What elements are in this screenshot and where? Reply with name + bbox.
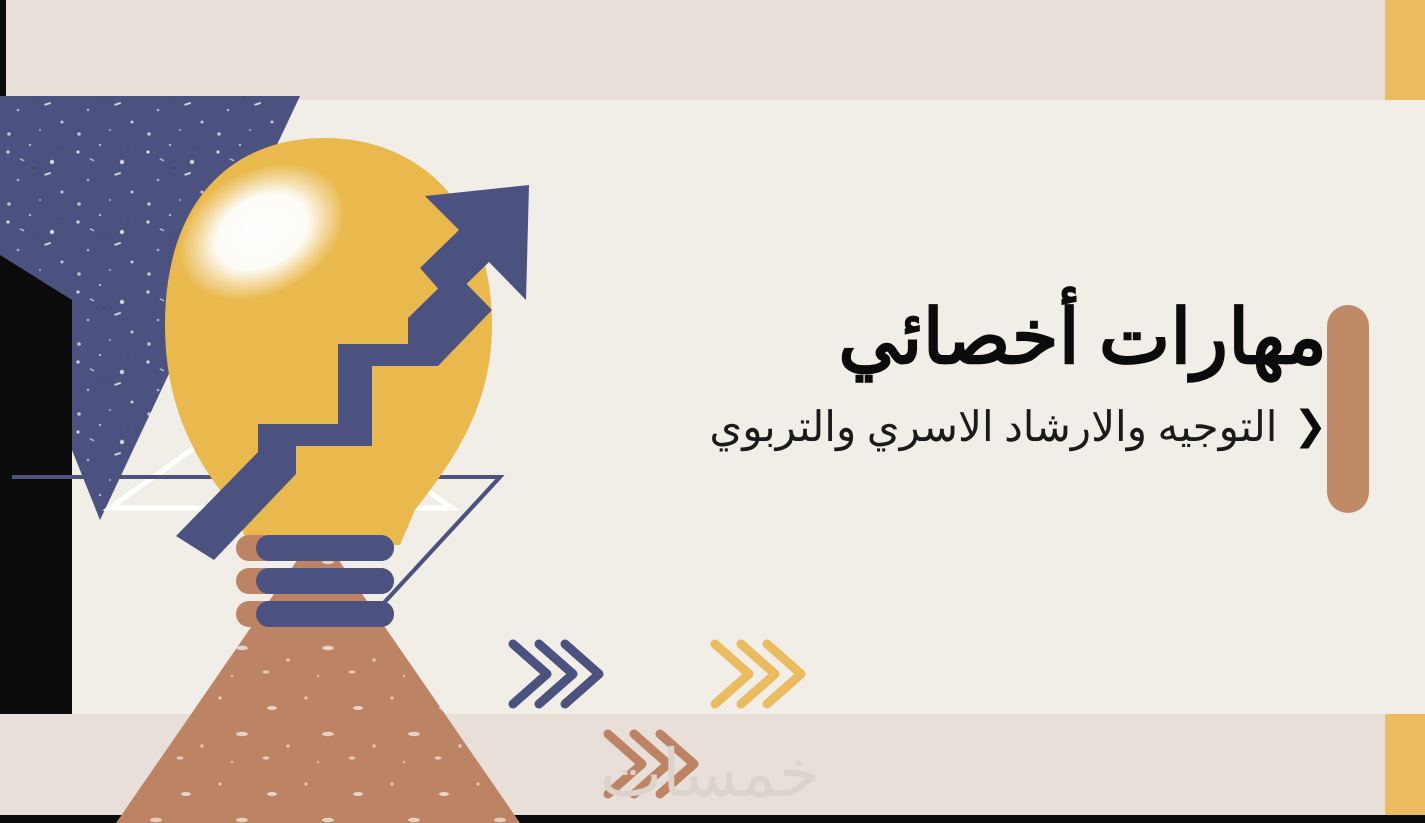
subtitle-row: ❮ التوجيه والارشاد الاسري والتربوي bbox=[627, 403, 1327, 453]
title-accent-pill bbox=[1327, 305, 1369, 513]
lightbulb-base-bars bbox=[236, 535, 394, 627]
watermark-khamsat: خمسات bbox=[600, 735, 820, 813]
page-subtitle: التوجيه والارشاد الاسري والتربوي bbox=[709, 403, 1277, 453]
navy-chevrons bbox=[505, 636, 605, 712]
chevron-left-icon: ❮ bbox=[1293, 406, 1327, 446]
page-title: مهارات أخصائي bbox=[627, 296, 1327, 381]
top-right-gold-block bbox=[1385, 0, 1425, 100]
presentation-slide: خمسات مهارات أخصائي ❮ التوجيه والارشاد ا… bbox=[0, 0, 1425, 823]
black-wedge bbox=[0, 300, 72, 714]
gold-chevrons bbox=[707, 636, 807, 712]
bottom-right-gold-block bbox=[1385, 714, 1425, 815]
title-block: مهارات أخصائي ❮ التوجيه والارشاد الاسري … bbox=[627, 296, 1327, 454]
